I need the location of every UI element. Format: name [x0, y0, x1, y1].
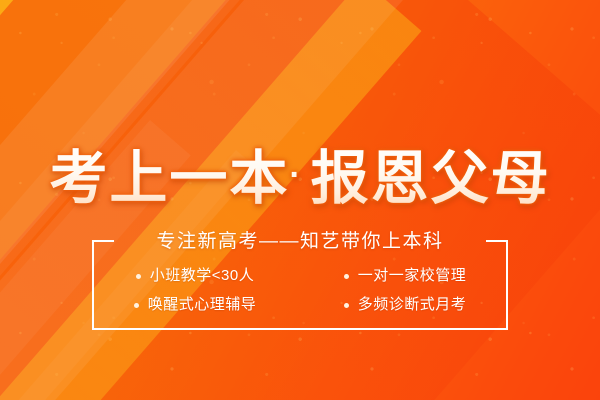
- subtitle: 专注新高考——知艺带你上本科: [0, 231, 600, 253]
- list-item: 唤醒式心理辅导: [134, 295, 257, 315]
- feature-list: 小班教学<30人 一对一家校管理 唤醒式心理辅导 多频诊断式月考: [92, 266, 508, 315]
- feature-label: 一对一家校管理: [358, 266, 467, 286]
- headline: 考上一本·报恩父母: [0, 142, 600, 212]
- bullet-dot-icon: [136, 274, 141, 279]
- feature-label: 小班教学<30人: [150, 266, 254, 286]
- bullet-dot-icon: [344, 274, 349, 279]
- headline-separator-dot: ·: [289, 156, 310, 194]
- headline-right-text: 报恩父母: [311, 146, 551, 211]
- list-item: 小班教学<30人: [136, 266, 254, 286]
- bullet-dot-icon: [344, 303, 349, 308]
- feature-label: 唤醒式心理辅导: [148, 295, 257, 315]
- bullet-dot-icon: [134, 303, 139, 308]
- headline-left-text: 考上一本: [49, 146, 289, 211]
- list-item: 一对一家校管理: [344, 266, 467, 286]
- promo-banner: 考上一本·报恩父母 专注新高考——知艺带你上本科 小班教学<30人 一对一家校管…: [0, 0, 600, 400]
- feature-label: 多频诊断式月考: [358, 295, 467, 315]
- list-item: 多频诊断式月考: [344, 295, 467, 315]
